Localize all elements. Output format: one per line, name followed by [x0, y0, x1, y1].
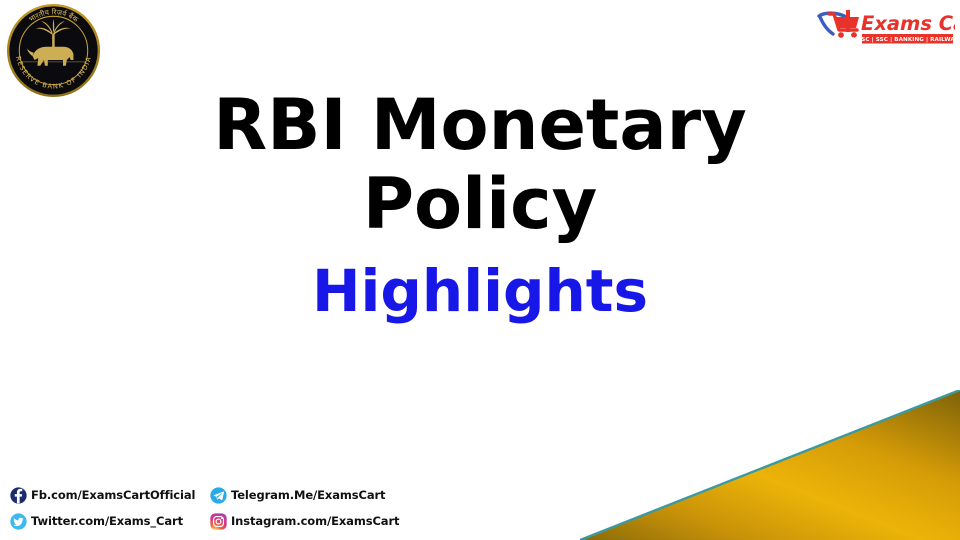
gold-corner-decoration	[580, 390, 960, 540]
page-title: RBI Monetary Policy	[0, 86, 960, 244]
social-label-twitter: Twitter.com/Exams_Cart	[31, 514, 183, 528]
social-row-2: Twitter.com/Exams_Cart	[10, 508, 430, 534]
social-label-telegram: Telegram.Me/ExamsCart	[231, 488, 385, 502]
exams-cart-tagline-text: UPSC | SSC | BANKING | RAILWAYS	[852, 37, 955, 43]
exams-cart-logo: Exams Cart UPSC | SSC | BANKING | RAILWA…	[817, 6, 955, 48]
title-block: RBI Monetary Policy Highlights	[0, 86, 960, 320]
page-title-line-2: Policy	[363, 163, 598, 245]
telegram-icon	[210, 487, 227, 504]
social-link-instagram[interactable]: Instagram.com/ExamsCart	[210, 508, 420, 534]
instagram-icon	[210, 513, 227, 530]
page-title-line-1: RBI Monetary	[213, 84, 747, 166]
social-label-instagram: Instagram.com/ExamsCart	[231, 514, 399, 528]
social-link-facebook[interactable]: Fb.com/ExamsCartOfficial	[10, 482, 210, 508]
social-label-facebook: Fb.com/ExamsCartOfficial	[31, 488, 195, 502]
twitter-icon	[10, 513, 27, 530]
social-link-twitter[interactable]: Twitter.com/Exams_Cart	[10, 508, 210, 534]
page-subtitle: Highlights	[0, 262, 960, 320]
facebook-icon	[10, 487, 27, 504]
social-row-1: Fb.com/ExamsCartOfficial Telegram.Me/Exa…	[10, 482, 430, 508]
social-links-bar: Fb.com/ExamsCartOfficial Telegram.Me/Exa…	[10, 482, 430, 534]
social-link-telegram[interactable]: Telegram.Me/ExamsCart	[210, 482, 420, 508]
presentation-slide: भारतीय रिज़र्व बैंक RESERVE BANK OF INDI…	[0, 0, 960, 540]
reserve-bank-of-india-seal-icon: भारतीय रिज़र्व बैंक RESERVE BANK OF INDI…	[6, 3, 101, 98]
exams-cart-brand-text: Exams Cart	[861, 12, 955, 35]
